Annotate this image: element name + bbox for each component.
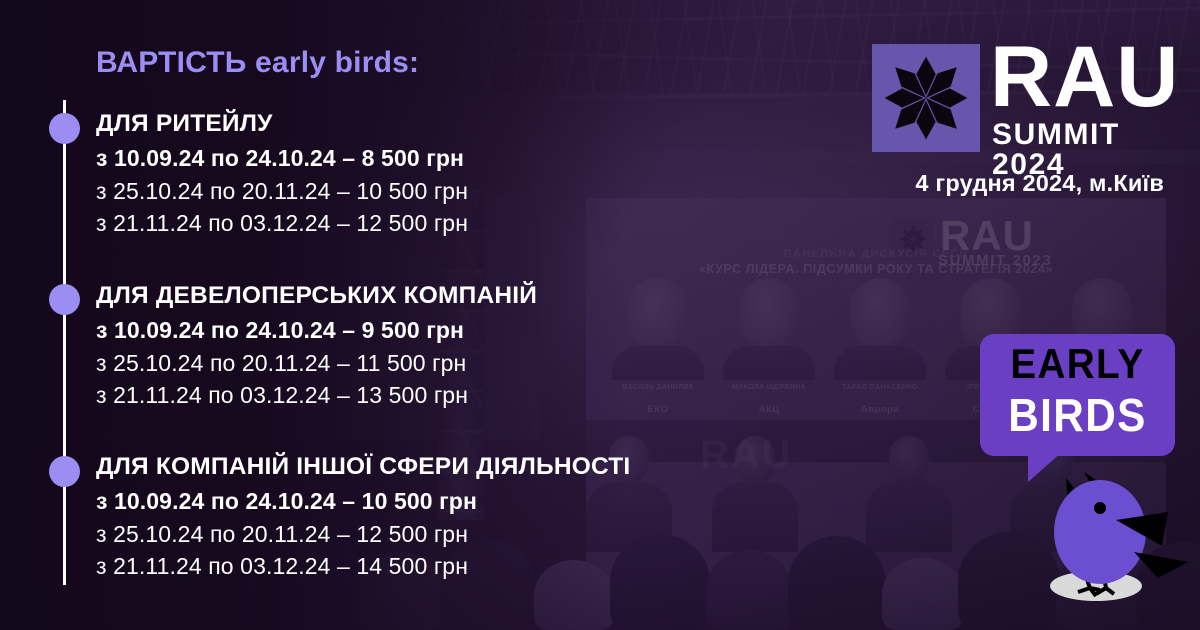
pricing-block-title: ДЛЯ КОМПАНІЙ ІНШОЇ СФЕРИ ДІЯЛЬНОСТІ <box>96 453 630 481</box>
pricing-block-title: ДЛЯ РИТЕЙЛУ <box>96 110 468 138</box>
badge-line-early: EARLY <box>988 340 1167 388</box>
logo-rau-wordmark: RAU <box>990 34 1179 120</box>
pricing-block-developers: ДЛЯ ДЕВЕЛОПЕРСЬКИХ КОМПАНІЙ з 10.09.24 п… <box>96 282 537 412</box>
price-row: з 10.09.24 по 24.10.24 – 9 500 грн <box>96 314 537 347</box>
price-row: з 10.09.24 по 24.10.24 – 10 500 грн <box>96 485 630 518</box>
badge-line-birds: BIRDS <box>988 388 1167 442</box>
timeline-dot-other <box>49 456 80 487</box>
early-birds-badge: EARLY BIRDS <box>980 334 1175 456</box>
early-bird-icon <box>1038 470 1200 602</box>
pricing-block-other: ДЛЯ КОМПАНІЙ ІНШОЇ СФЕРИ ДІЯЛЬНОСТІ з 10… <box>96 453 630 583</box>
timeline-dot-developers <box>49 284 80 315</box>
price-row: з 21.11.24 по 03.12.24 – 13 500 грн <box>96 379 537 412</box>
price-row: з 25.10.24 по 20.11.24 – 12 500 грн <box>96 518 630 551</box>
early-birds-pricing-poster: RAU SUMMIT 2023 ПАНЕЛЬНА ДИСКУСІЯ СЕСІЇ … <box>0 0 1200 630</box>
price-row: з 21.11.24 по 03.12.24 – 12 500 грн <box>96 207 468 240</box>
timeline-dot-retail <box>49 113 80 144</box>
pricing-block-title: ДЛЯ ДЕВЕЛОПЕРСЬКИХ КОМПАНІЙ <box>96 282 537 310</box>
price-row: з 21.11.24 по 03.12.24 – 14 500 грн <box>96 550 630 583</box>
price-row: з 25.10.24 по 20.11.24 – 11 500 грн <box>96 347 537 380</box>
page-title: ВАРТІСТЬ early birds: <box>96 46 419 80</box>
event-date-location: 4 грудня 2024, м.Київ <box>0 170 1164 197</box>
rau-eight-point-star-icon <box>882 54 970 142</box>
